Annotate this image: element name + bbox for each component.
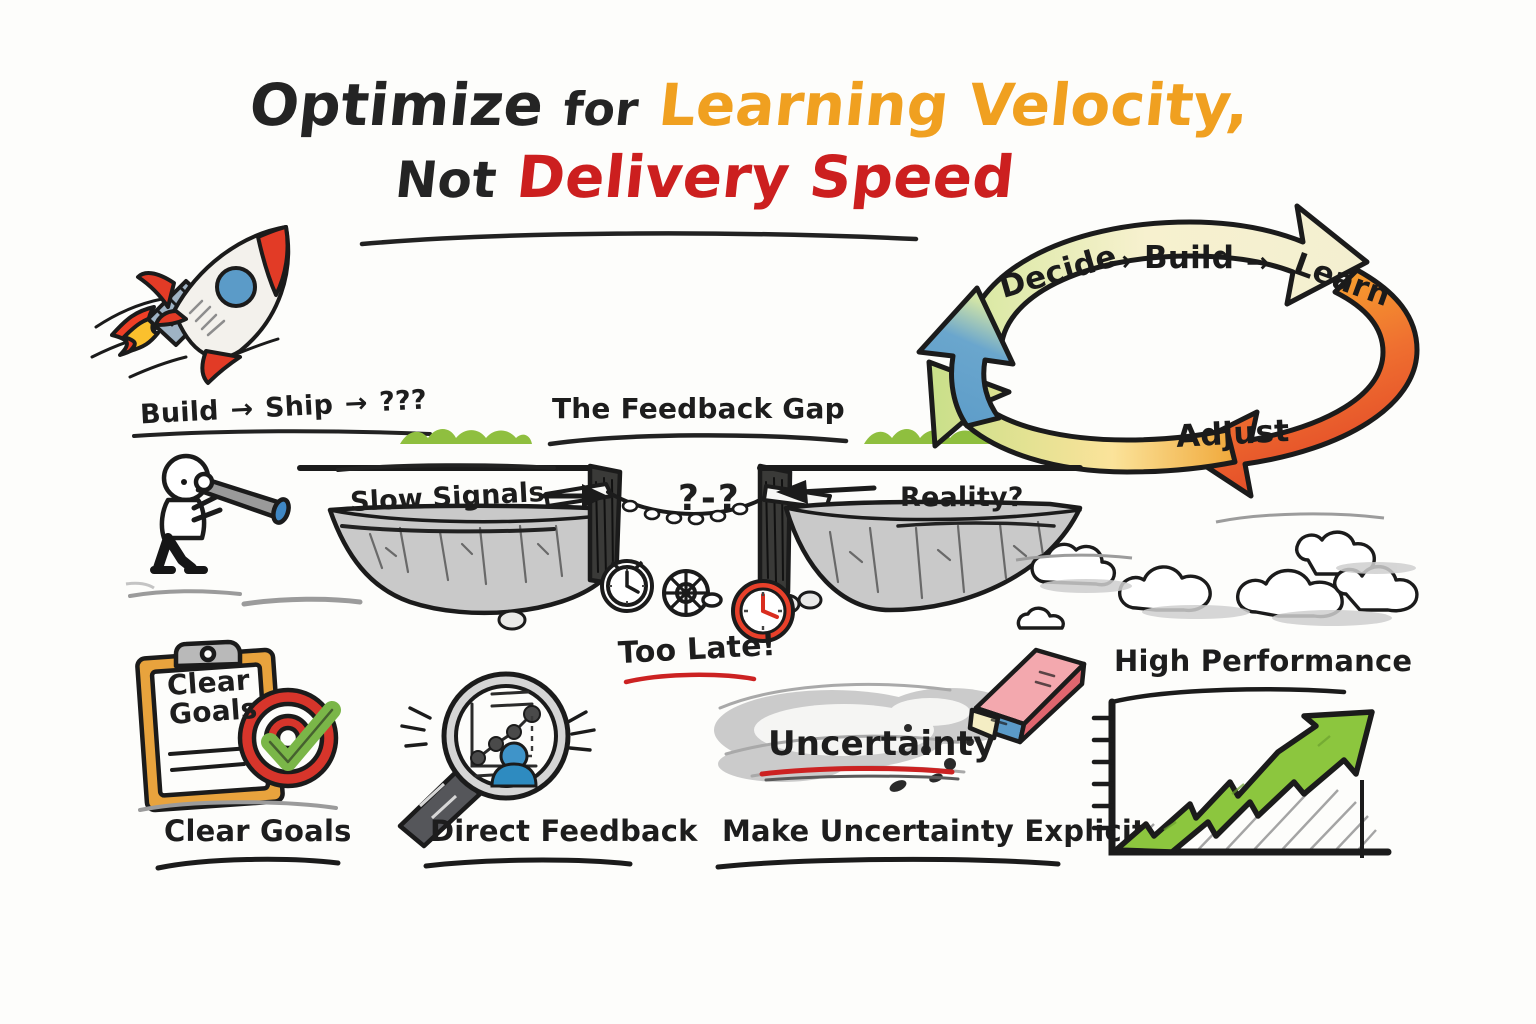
cycle-step-adjust: Adjust xyxy=(1175,413,1290,455)
uncertainty-word: Uncertainty xyxy=(768,724,995,764)
flow-step-build: Build xyxy=(139,395,219,430)
feedback-gap-heading: The Feedback Gap xyxy=(552,392,845,425)
slow-signals-banner xyxy=(336,462,556,474)
pillar-caption-direct-feedback: Direct Feedback xyxy=(430,814,698,848)
pillar-caption-underline-2 xyxy=(424,856,632,872)
cycle-inline-arrow-2: → xyxy=(1246,246,1270,279)
flow-step-ship: Ship xyxy=(264,389,334,424)
flow-step-unknown: ??? xyxy=(379,385,428,418)
performance-chart-title: High Performance xyxy=(1114,644,1412,678)
pillar-caption-clear-goals: Clear Goals xyxy=(164,814,352,848)
rocket-flow-underline xyxy=(132,428,432,442)
title-line-1: Optimize for Learning Velocity, xyxy=(247,76,1252,134)
feedback-gap-underline xyxy=(548,432,848,448)
title-phrase-learning-velocity: Learning Velocity, xyxy=(656,71,1253,139)
uncertainty-underline xyxy=(760,766,960,784)
infographic-canvas: Optimize for Learning Velocity, Not Deli… xyxy=(0,0,1536,1024)
clock-icon xyxy=(596,552,658,616)
gear-icon xyxy=(658,566,722,620)
pillar-caption-underline-3 xyxy=(716,856,1060,872)
reality-label: Reality? xyxy=(900,482,1024,513)
gap-question-marks: ?-? xyxy=(678,478,741,519)
too-late-label: Too Late! xyxy=(617,628,776,671)
magnifier-chart-icon xyxy=(380,660,610,840)
cycle-inline-arrow-1: → xyxy=(1107,244,1133,279)
flow-arrow-1: → xyxy=(230,394,254,426)
title-word-optimize: Optimize xyxy=(246,71,547,139)
reality-arrow-icon xyxy=(766,478,876,508)
slow-signals-underline xyxy=(340,522,556,536)
title-word-not: Not xyxy=(393,151,500,209)
performance-chart xyxy=(1072,690,1402,870)
cloud-icon xyxy=(1016,500,1476,640)
title-word-for: for xyxy=(561,82,642,136)
grass-tuft-left xyxy=(398,424,534,446)
rocket-icon xyxy=(90,215,360,405)
cycle-step-build: Build xyxy=(1144,240,1234,276)
clipboard-note: Clear Goals xyxy=(166,665,258,730)
title-underline xyxy=(360,228,920,250)
flow-arrow-2: → xyxy=(344,388,368,420)
pillar-caption-underline-1 xyxy=(156,856,340,872)
page-title: Optimize for Learning Velocity, Not Deli… xyxy=(250,76,1249,206)
title-line-2: Not Delivery Speed xyxy=(393,148,1252,206)
slow-signals-arrow-icon xyxy=(542,480,612,514)
clipboard-note-line-2: Goals xyxy=(168,694,258,729)
